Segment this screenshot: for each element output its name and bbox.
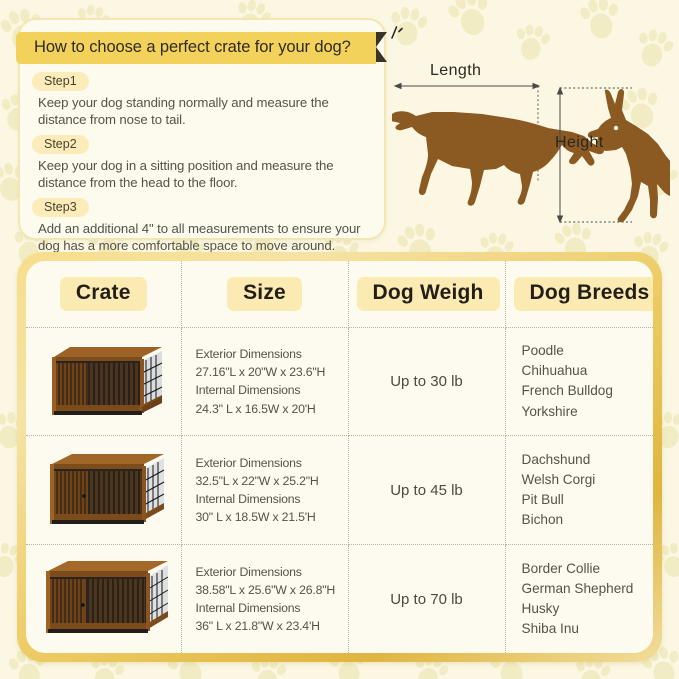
header-pill-dog-weigh: Dog Weigh bbox=[357, 277, 500, 311]
step-text: Keep your dog standing normally and meas… bbox=[32, 93, 372, 135]
column-header-size: Size bbox=[181, 261, 348, 327]
step-text: Keep your dog in a sitting position and … bbox=[32, 156, 372, 198]
crate-size-cell: Exterior Dimensions 27.16"L x 20"W x 23.… bbox=[181, 327, 348, 436]
crate-size-cell: Exterior Dimensions 32.5"L x 22"W x 25.2… bbox=[181, 436, 348, 545]
dog-crate-image bbox=[34, 444, 172, 536]
table-row: Exterior Dimensions 27.16"L x 20"W x 23.… bbox=[26, 327, 653, 436]
crate-image-cell bbox=[26, 436, 181, 545]
dog-weight-cell: Up to 70 lb bbox=[348, 545, 505, 653]
dog-crate-image bbox=[34, 335, 172, 427]
size-line: Exterior Dimensions bbox=[196, 563, 338, 581]
size-line: 38.58"L x 25.6"W x 26.8"H bbox=[196, 581, 338, 599]
header-pill-size: Size bbox=[227, 277, 302, 311]
table-header-row: Crate Size Dog Weigh Dog Breeds bbox=[26, 261, 653, 327]
crate-image-cell bbox=[26, 327, 181, 436]
sparkle-icon bbox=[388, 26, 404, 40]
size-line: Internal Dimensions bbox=[196, 490, 338, 508]
step-item: Step1 Keep your dog standing normally an… bbox=[32, 72, 372, 135]
height-label: Height bbox=[555, 134, 604, 152]
size-line: 24.3" L x 16.5W x 20'H bbox=[196, 400, 338, 418]
table-row: Exterior Dimensions 38.58"L x 25.6"W x 2… bbox=[26, 545, 653, 653]
crate-image-cell bbox=[26, 545, 181, 653]
breed-item: Yorkshire bbox=[522, 402, 644, 422]
column-header-crate: Crate bbox=[26, 261, 181, 327]
how-to-guide-panel: How to choose a perfect crate for your d… bbox=[18, 18, 386, 240]
breed-item: Husky bbox=[522, 599, 644, 619]
table-row: Exterior Dimensions 32.5"L x 22"W x 25.2… bbox=[26, 436, 653, 545]
breed-item: Poodle bbox=[522, 341, 644, 361]
crate-size-table-card: Crate Size Dog Weigh Dog Breeds bbox=[17, 252, 662, 662]
dog-breeds-cell: Border Collie German Shepherd Husky Shib… bbox=[505, 545, 653, 653]
breed-item: Border Collie bbox=[522, 559, 644, 579]
step-label: Step3 bbox=[32, 198, 89, 217]
dog-breeds-cell: Dachshund Welsh Corgi Pit Bull Bichon bbox=[505, 436, 653, 545]
dog-breeds-cell: Poodle Chihuahua French Bulldog Yorkshir… bbox=[505, 327, 653, 436]
size-line: 36" L x 21.8"W x 23.4'H bbox=[196, 617, 338, 635]
crate-size-cell: Exterior Dimensions 38.58"L x 25.6"W x 2… bbox=[181, 545, 348, 653]
size-line: 30" L x 18.5W x 21.5'H bbox=[196, 508, 338, 526]
dog-weight-cell: Up to 30 lb bbox=[348, 327, 505, 436]
breed-item: Dachshund bbox=[522, 450, 644, 470]
breed-item: German Shepherd bbox=[522, 579, 644, 599]
guide-title: How to choose a perfect crate for your d… bbox=[16, 32, 376, 64]
breed-item: Welsh Corgi bbox=[522, 470, 644, 490]
breed-item: Pit Bull bbox=[522, 490, 644, 510]
step-label: Step1 bbox=[32, 72, 89, 91]
dog-weight-cell: Up to 45 lb bbox=[348, 436, 505, 545]
size-line: Internal Dimensions bbox=[196, 599, 338, 617]
step-item: Step2 Keep your dog in a sitting positio… bbox=[32, 135, 372, 198]
crate-size-table: Crate Size Dog Weigh Dog Breeds bbox=[26, 261, 653, 653]
size-line: Exterior Dimensions bbox=[196, 345, 338, 363]
length-label: Length bbox=[430, 62, 481, 80]
size-line: 32.5"L x 22"W x 25.2"H bbox=[196, 472, 338, 490]
standing-dog-silhouette bbox=[392, 111, 604, 205]
breed-item: French Bulldog bbox=[522, 381, 644, 401]
measurement-diagram: Length Height bbox=[392, 46, 670, 236]
header-pill-dog-breeds: Dog Breeds bbox=[514, 277, 654, 311]
size-line: Exterior Dimensions bbox=[196, 454, 338, 472]
breed-item: Bichon bbox=[522, 510, 644, 530]
column-header-dog-weigh: Dog Weigh bbox=[348, 261, 505, 327]
sitting-dog-silhouette bbox=[588, 89, 670, 223]
size-line: Internal Dimensions bbox=[196, 381, 338, 399]
ribbon-fold-decoration bbox=[376, 32, 387, 62]
header-pill-crate: Crate bbox=[60, 277, 147, 311]
steps-list: Step1 Keep your dog standing normally an… bbox=[20, 72, 384, 261]
step-label: Step2 bbox=[32, 135, 89, 154]
column-header-dog-breeds: Dog Breeds bbox=[505, 261, 653, 327]
breed-item: Chihuahua bbox=[522, 361, 644, 381]
dog-crate-image bbox=[34, 553, 172, 645]
dog-eye bbox=[614, 126, 618, 130]
breed-item: Shiba Inu bbox=[522, 619, 644, 639]
size-line: 27.16"L x 20"W x 23.6"H bbox=[196, 363, 338, 381]
